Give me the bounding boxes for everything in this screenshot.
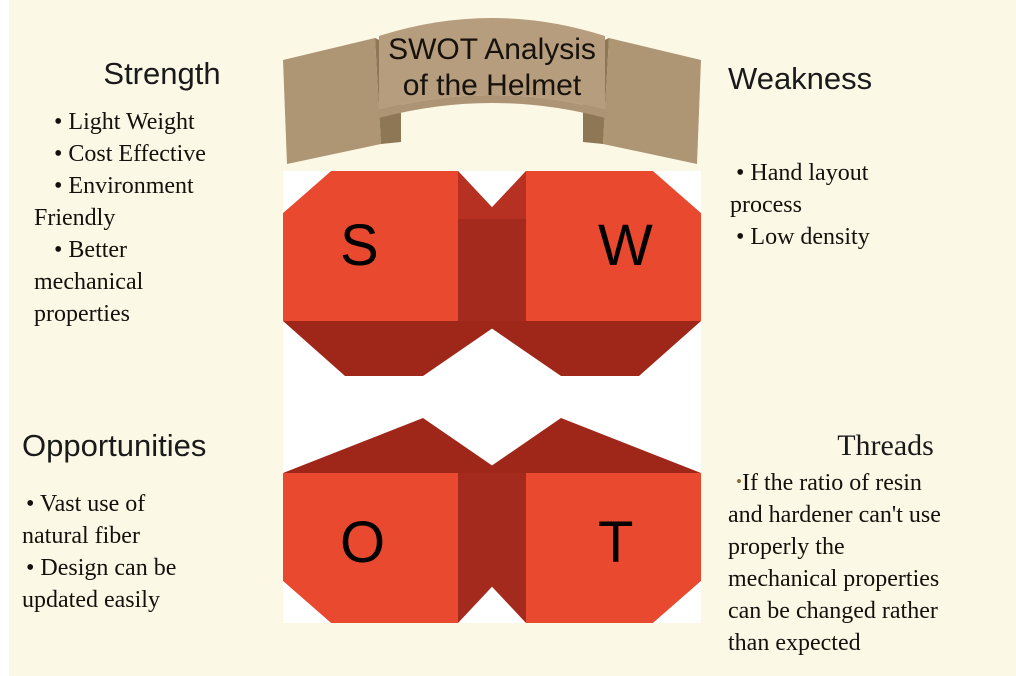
strength-line: Friendly (34, 202, 278, 234)
banner-title-line-1: SWOT Analysis (283, 32, 701, 68)
weakness-heading: Weakness (728, 61, 998, 97)
cube-threads-shape (481, 418, 701, 623)
quadrant-weakness: Weakness • Hand layout process • Low den… (728, 61, 998, 253)
threads-bullet-list: •If the ratio of resin and hardener can'… (722, 466, 1007, 659)
strength-heading: Strength (28, 56, 278, 92)
opportunities-line: • Design can be (26, 552, 284, 584)
strength-bullet-list: • Light Weight • Cost Effective • Enviro… (28, 106, 278, 330)
cube-threads-letter: T (598, 514, 633, 572)
strength-line: mechanical (34, 266, 278, 298)
strength-line: • Environment (54, 170, 278, 202)
cube-opportunities[interactable]: O (283, 418, 503, 623)
cube-threads[interactable]: T (481, 418, 701, 623)
cube-strength-shape (283, 171, 503, 376)
threads-line: •If the ratio of resin (736, 466, 1007, 499)
weakness-line: process (730, 189, 998, 221)
cube-weakness-letter: W (598, 217, 653, 275)
quadrant-strength: Strength • Light Weight • Cost Effective… (28, 56, 278, 330)
weakness-line: • Hand layout (736, 157, 998, 189)
opportunities-bullet-list: • Vast use of natural fiber • Design can… (22, 488, 284, 616)
strength-line: properties (34, 298, 278, 330)
threads-line: can be changed rather (728, 595, 1007, 627)
cube-strength-letter: S (340, 217, 379, 275)
opportunities-heading: Opportunities (22, 428, 284, 464)
threads-line-text: If the ratio of resin (742, 470, 922, 496)
threads-line: mechanical properties (728, 563, 1007, 595)
cube-opportunities-shape (283, 418, 503, 623)
weakness-bullet-list: • Hand layout process • Low density (728, 157, 998, 253)
strength-line: • Better (54, 234, 278, 266)
cube-opportunities-letter: O (340, 514, 385, 572)
quadrant-opportunities: Opportunities • Vast use of natural fibe… (22, 428, 284, 616)
cube-strength[interactable]: S (283, 171, 503, 376)
strength-line: • Light Weight (54, 106, 278, 138)
opportunities-line: updated easily (22, 584, 284, 616)
threads-line: and hardener can't use (728, 499, 1007, 531)
threads-heading: Threads (722, 428, 1007, 464)
weakness-line: • Low density (736, 221, 998, 253)
cube-weakness[interactable]: W (481, 171, 701, 376)
cube-weakness-shape (481, 171, 701, 376)
banner-title-line-2: of the Helmet (283, 68, 701, 104)
opportunities-line: • Vast use of (26, 488, 284, 520)
threads-line: than expected (728, 627, 1007, 659)
threads-line: properly the (728, 531, 1007, 563)
banner-title: SWOT Analysis of the Helmet (283, 32, 701, 104)
swot-diagram-canvas: SWOT Analysis of the Helmet S (0, 0, 1016, 676)
opportunities-line: natural fiber (22, 520, 284, 552)
quadrant-threads: Threads •If the ratio of resin and harde… (722, 428, 1007, 659)
title-banner: SWOT Analysis of the Helmet (283, 14, 701, 166)
strength-line: • Cost Effective (54, 138, 278, 170)
